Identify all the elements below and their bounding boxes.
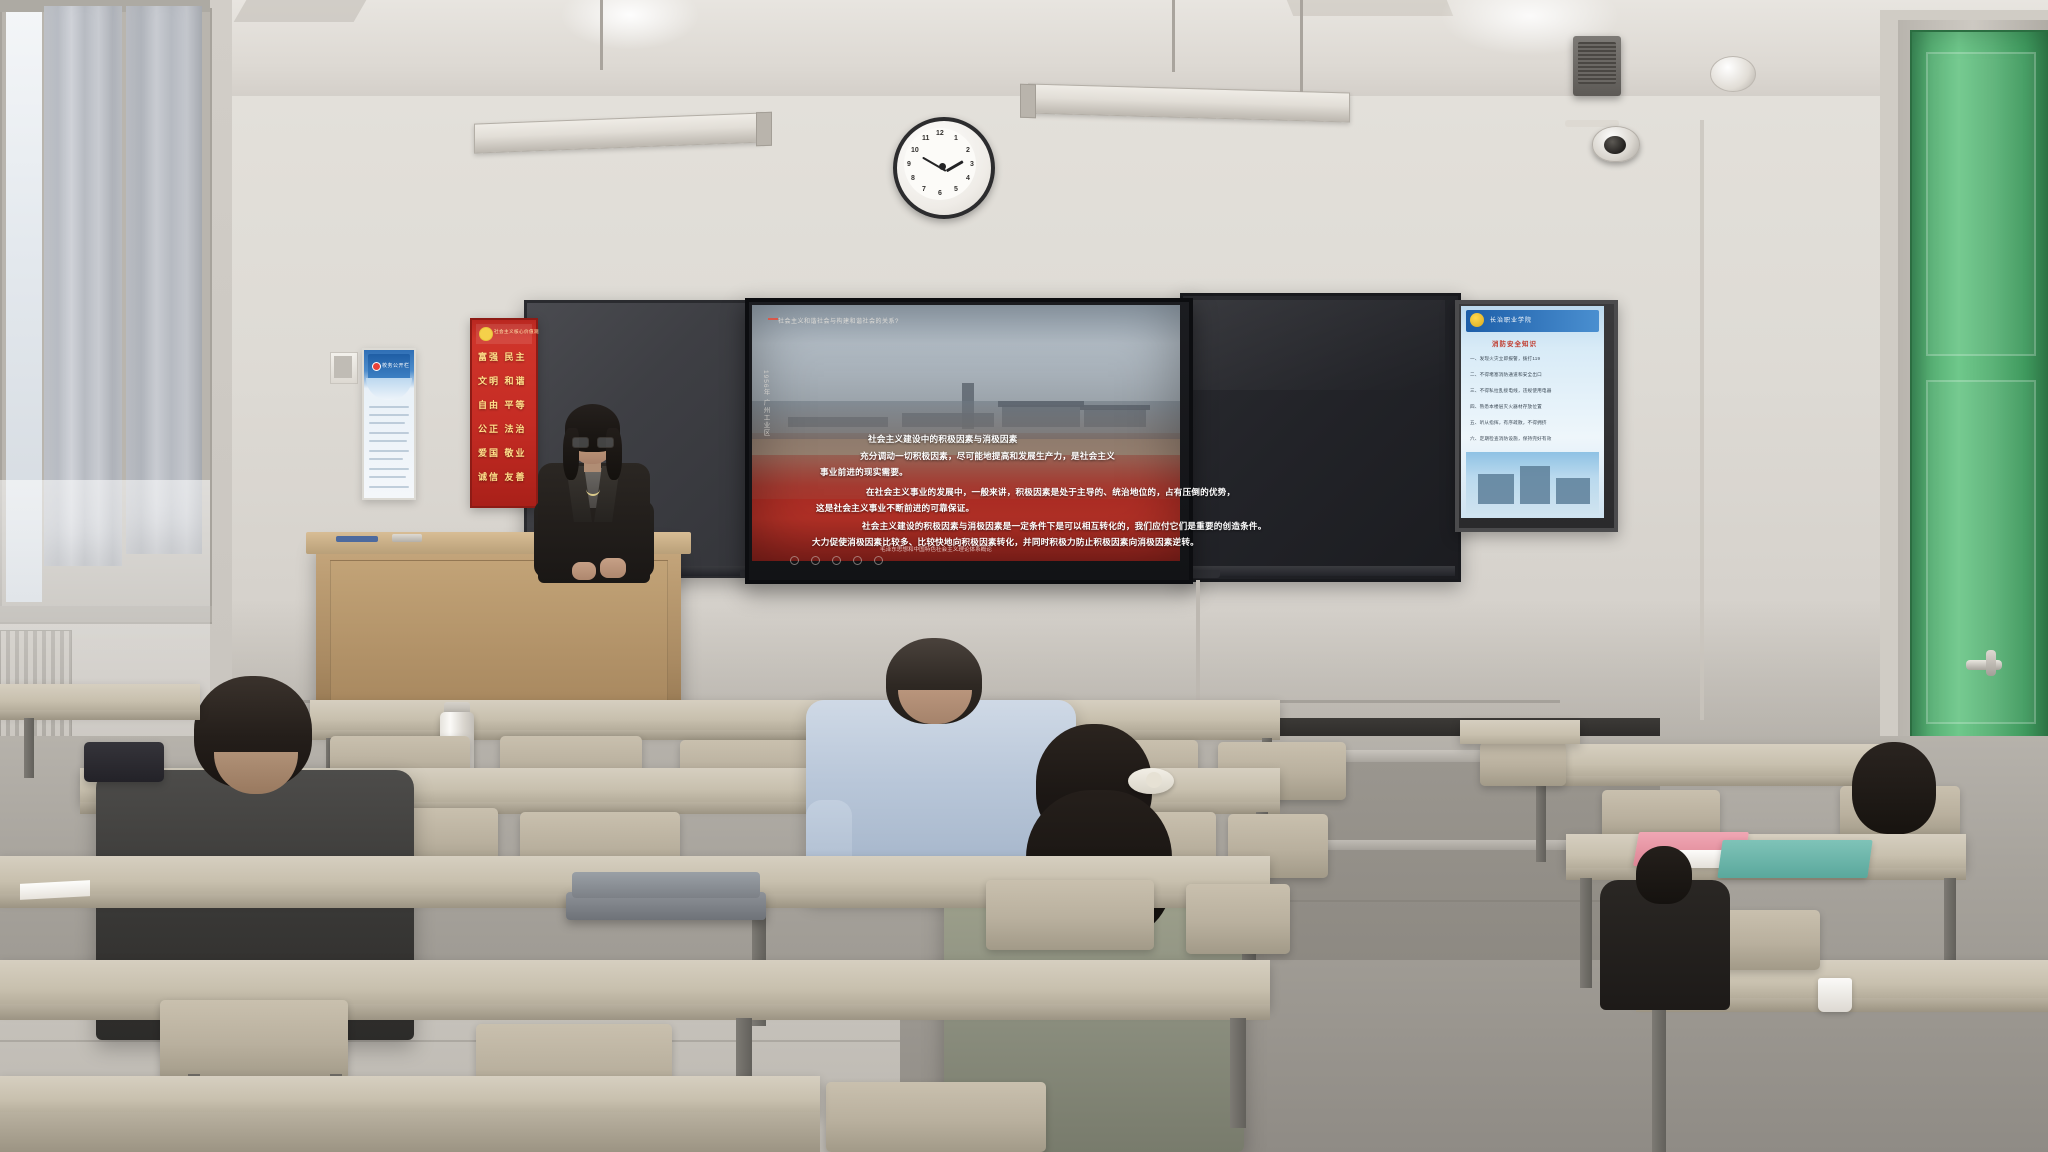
- framed-board-line: 六、定期检查消防设施，保持完好有效: [1470, 436, 1552, 442]
- slide-body-line-6: 大力促使消极因素比较多、比较快地向积极因素转化，并同时积极力防止积极因素向消极因…: [812, 537, 1199, 548]
- ceiling-beam-left: [234, 0, 367, 22]
- clock-number-7: 7: [922, 186, 926, 193]
- clock-number-2: 2: [966, 147, 970, 154]
- seat-row4-3[interactable]: [826, 1082, 1046, 1152]
- slide-body-line-5: 社会主义建设的积极因素与消极因素是一定条件下是可以相互转化的，我们应付它们是重要…: [862, 521, 1267, 532]
- glasses-lens-left: [572, 437, 589, 448]
- presenter-hand-left: [572, 562, 596, 580]
- desk-leg: [24, 718, 34, 778]
- clock-number-4: 4: [966, 175, 970, 182]
- framed-board-photo: [1466, 452, 1599, 514]
- hair-bow-knot-icon: [1146, 772, 1162, 788]
- wall-clock: 12 1 2 3 4 5 6 7 8 9 10 11: [893, 117, 995, 219]
- seat-left-back[interactable]: [84, 742, 164, 782]
- framed-board-line: 二、不得堵塞消防通道和安全出口: [1470, 372, 1542, 378]
- poster-red-row: 富强 民主: [478, 350, 527, 363]
- seat-aisle-1[interactable]: [1480, 742, 1566, 786]
- small-wall-notice: [330, 352, 358, 384]
- pendant-rod-right: [1172, 0, 1175, 72]
- seat-row3-1[interactable]: [986, 880, 1154, 950]
- desk-leg: [1580, 878, 1592, 988]
- ceiling-dome-light: [1710, 56, 1756, 92]
- student-far-right-body: [1800, 800, 1970, 1152]
- poster-red-row: 诚信 友善: [478, 470, 527, 483]
- poster-red-title: 社会主义核心价值观: [494, 329, 539, 335]
- laptop-lid[interactable]: [572, 872, 760, 898]
- desk-left-back: [0, 684, 200, 712]
- poster-blue-textline: [369, 422, 405, 424]
- framed-photo-building-2: [1520, 466, 1550, 504]
- poster-blue-arc: [366, 378, 412, 400]
- desk-right-back: [1520, 744, 1900, 778]
- clock-number-8: 8: [911, 175, 915, 182]
- screen-power-icon[interactable]: [790, 556, 799, 565]
- slide-body-line-3: 在社会主义事业的发展中，一般来讲，积极因素是处于主导的、统治地位的，占有压倒的优…: [866, 487, 1235, 498]
- wall-cable: [1196, 580, 1200, 720]
- desk-leg: [1652, 1010, 1666, 1152]
- poster-red-row: 爱国 敬业: [478, 446, 527, 459]
- framed-board-line: 一、发现火灾立即报警，拨打119: [1470, 356, 1540, 362]
- framed-board-line: 五、听从指挥，有序疏散，不得拥挤: [1470, 420, 1547, 426]
- pendant-cap-right: [1020, 84, 1036, 118]
- desk-right-back-edge: [1520, 776, 1900, 786]
- school-emblem-icon: [1470, 313, 1484, 327]
- slide-body-line-1: 充分调动一切积极因素，尽可能地提高和发展生产力，是社会主义: [860, 451, 1115, 462]
- desk-leg: [1230, 1018, 1246, 1128]
- blackboard-sheen: [1190, 300, 1445, 390]
- classroom-scene: 12 1 2 3 4 5 6 7 8 9 10 11: [0, 0, 2048, 1152]
- desk-aisle: [1460, 720, 1580, 744]
- poster-blue-title: 校务公开栏: [382, 362, 410, 369]
- slide-footer-text: 毛泽东思想和中国特色社会主义理论体系概论: [880, 545, 992, 553]
- clock-hour-hand: [946, 160, 964, 172]
- slide-body-line-4: 这是社会主义事业不断前进的可靠保证。: [816, 503, 974, 514]
- small-wall-notice-inner: [334, 356, 352, 378]
- screen-volume-icon[interactable]: [832, 556, 841, 565]
- clock-number-11: 11: [922, 135, 929, 142]
- poster-red-row: 文明 和谐: [478, 374, 527, 387]
- seat-row3-2[interactable]: [1186, 884, 1290, 954]
- clock-number-9: 9: [907, 161, 911, 168]
- screen-menu-icon[interactable]: [811, 556, 820, 565]
- poster-blue-textline: [369, 440, 407, 442]
- seat-row4-1[interactable]: [160, 1000, 348, 1080]
- poster-blue-textline: [369, 406, 409, 408]
- poster-blue-emblem-icon: [372, 362, 381, 371]
- slide-title-bullet-icon: [768, 318, 778, 320]
- framed-photo-building-3: [1556, 478, 1590, 504]
- wall-speaker: [1573, 36, 1621, 96]
- framed-board-subtitle: 消防安全知识: [1492, 338, 1537, 348]
- lectern-marker[interactable]: [336, 536, 378, 542]
- slide-heading: 社会主义建设中的积极因素与消极因素: [868, 434, 1018, 445]
- poster-red-row: 自由 平等: [478, 398, 527, 411]
- pendant-rod-right2: [1300, 0, 1303, 92]
- screen-settings-icon[interactable]: [874, 556, 883, 565]
- ceiling-beam-right: [1287, 0, 1453, 16]
- presenter-hand-right: [600, 558, 626, 578]
- poster-blue-textline: [369, 414, 409, 416]
- slide-body-line-2: 事业前进的现实需要。: [820, 467, 908, 478]
- presenter-hair-left: [563, 428, 579, 480]
- presenter-hair-right: [606, 428, 622, 480]
- clock-number-10: 10: [911, 147, 919, 154]
- slide-header-text: 社会主义和谐社会与构建和谐社会的关系?: [778, 316, 1078, 325]
- glasses-lens-right: [597, 437, 614, 448]
- poster-school-notice: 校务公开栏: [362, 348, 416, 500]
- slide-vertical-caption: 1956年 广州工业区: [759, 370, 771, 436]
- pendant-rod-left: [600, 0, 603, 70]
- poster-blue-textline: [369, 432, 409, 434]
- clock-number-5: 5: [954, 186, 958, 193]
- door-handle[interactable]: [1966, 660, 2002, 670]
- poster-blue-textline: [369, 458, 403, 460]
- framed-board-line: 四、熟悉本楼层灭火器材存放位置: [1470, 404, 1542, 410]
- clock-number-6: 6: [938, 190, 942, 197]
- lectern-remote[interactable]: [392, 534, 422, 542]
- door-panel-upper: [1926, 52, 2036, 356]
- desk-leg: [1536, 784, 1546, 862]
- framed-photo-building-1: [1478, 474, 1514, 504]
- clock-number-3: 3: [970, 161, 974, 168]
- student-far-right-head: [1852, 742, 1936, 834]
- desk-row-5: [0, 1076, 820, 1116]
- door-lock-icon[interactable]: [1986, 650, 1996, 676]
- wall-cable-right: [1700, 120, 1704, 720]
- poster-blue-textline: [369, 486, 409, 488]
- speaker-grill: [1578, 42, 1616, 84]
- camera-lens-icon: [1604, 136, 1626, 154]
- door-panel-lower: [1926, 380, 2036, 724]
- screen-source-icon[interactable]: [853, 556, 862, 565]
- poster-blue-textline: [369, 476, 406, 478]
- poster-red-row: 公正 法治: [478, 422, 527, 435]
- clock-number-1: 1: [954, 135, 958, 142]
- poster-blue-textline: [369, 450, 409, 452]
- framed-board-title: 长治职业学院: [1490, 315, 1532, 324]
- poster-blue-textline: [369, 468, 409, 470]
- poster-core-socialist-values: 社会主义核心价值观 富强 民主 文明 和谐 自由 平等 公正 法治 爱国 敬业 …: [470, 318, 538, 508]
- curtain-right[interactable]: [126, 6, 202, 554]
- floor-joint-line: [1240, 900, 1660, 902]
- student-right-head: [1636, 846, 1692, 904]
- screen-control-bar[interactable]: [790, 556, 910, 565]
- desk-row-5-edge: [0, 1112, 820, 1152]
- clock-number-12: 12: [936, 130, 944, 137]
- floor-joint-line: [0, 1040, 900, 1042]
- clock-center-pin: [939, 163, 946, 170]
- presenter-necklace: [586, 482, 600, 496]
- presenter-glasses-icon: [572, 437, 612, 446]
- pendant-cap-left: [756, 112, 772, 147]
- framed-board-line: 三、不得私拉乱接电线，违规使用电器: [1470, 388, 1552, 394]
- poster-red-emblem-icon: [479, 327, 493, 341]
- framed-board-header: [1466, 310, 1599, 332]
